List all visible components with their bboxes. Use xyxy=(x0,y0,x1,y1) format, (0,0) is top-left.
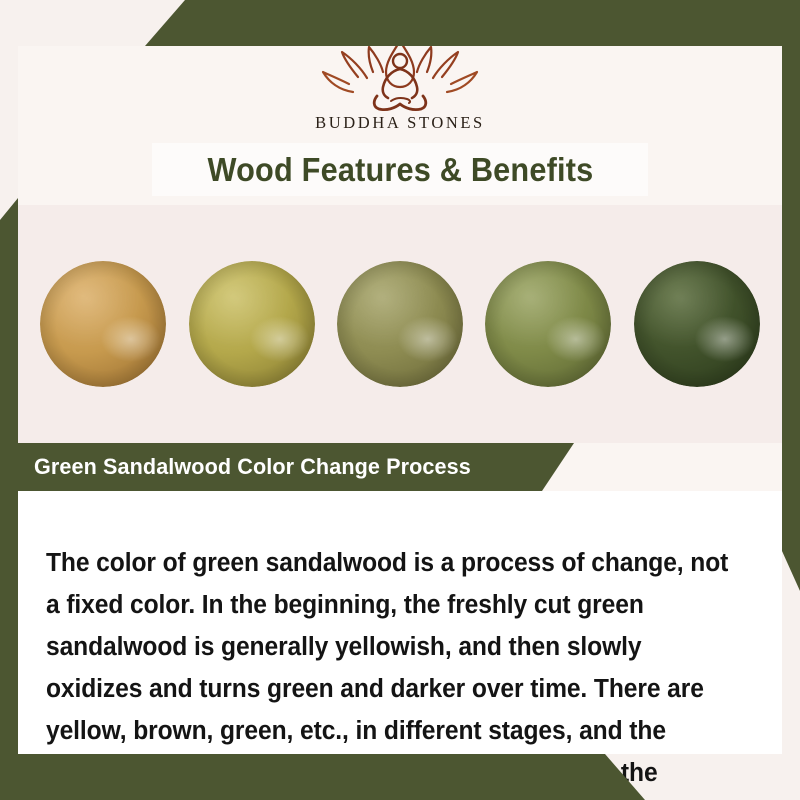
bead-stage-3 xyxy=(337,261,463,387)
brand-header: BUDDHA STONES xyxy=(18,46,782,146)
bead-stage-2 xyxy=(189,261,315,387)
body-panel: The color of green sandalwood is a proce… xyxy=(18,491,782,754)
bead-stage-4 xyxy=(485,261,611,387)
frame-top-accent xyxy=(0,0,800,46)
bead-gradient-strip xyxy=(18,205,782,443)
page-title: Wood Features & Benefits xyxy=(207,151,593,189)
infographic-poster: BUDDHA STONES Wood Features & Benefits G… xyxy=(0,0,800,800)
title-banner: Wood Features & Benefits xyxy=(152,143,648,196)
section-heading: Green Sandalwood Color Change Process xyxy=(34,454,471,480)
bead-stage-1 xyxy=(40,261,166,387)
lotus-meditation-logo-icon xyxy=(315,38,485,112)
bead-gloss xyxy=(634,261,760,387)
bead-stage-5 xyxy=(634,261,760,387)
bead-gloss xyxy=(189,261,315,387)
bead-gloss xyxy=(40,261,166,387)
frame-left-accent xyxy=(0,198,18,800)
brand-name: BUDDHA STONES xyxy=(315,113,485,133)
frame-right-accent xyxy=(782,46,800,591)
bead-gloss xyxy=(337,261,463,387)
bead-gloss xyxy=(485,261,611,387)
section-heading-bar: Green Sandalwood Color Change Process xyxy=(18,443,574,491)
